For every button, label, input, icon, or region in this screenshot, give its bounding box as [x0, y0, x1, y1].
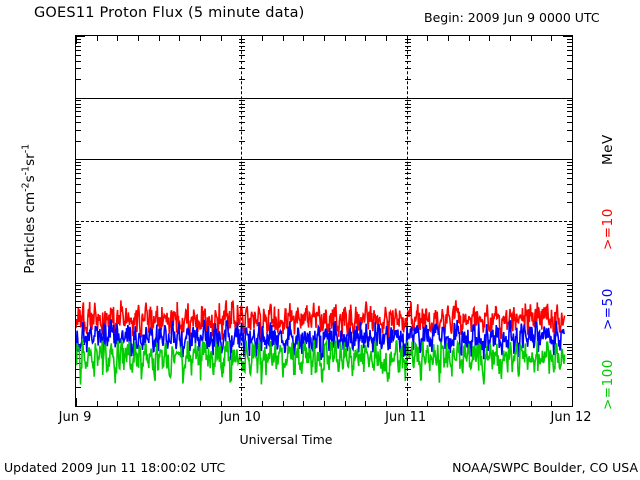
divider-minor-tick [405, 347, 411, 348]
divider-minor-tick [405, 224, 411, 225]
divider-minor-tick [405, 326, 411, 327]
divider-minor-tick [239, 104, 245, 105]
divider-minor-tick [239, 39, 245, 40]
x-axis-major-tick [572, 398, 573, 406]
divider-minor-tick [405, 162, 411, 163]
divider-minor-tick [405, 296, 411, 297]
divider-minor-tick [405, 264, 411, 265]
divider-minor-tick [405, 165, 411, 166]
x-tick-label: Jun 12 [551, 410, 592, 425]
legend-item-100: >=100 [600, 359, 616, 410]
divider-minor-tick [239, 192, 245, 193]
divider-minor-tick [239, 246, 245, 247]
divider-minor-tick [405, 107, 411, 108]
divider-minor-tick [239, 240, 245, 241]
divider-minor-tick [239, 301, 245, 302]
x-tick-label: Jun 9 [59, 410, 92, 425]
divider-minor-tick [239, 307, 245, 308]
divider-minor-tick [405, 315, 411, 316]
divider-minor-tick [239, 107, 245, 108]
divider-minor-tick [405, 130, 411, 131]
x-tick-label: Jun 10 [220, 410, 261, 425]
divider-minor-tick [405, 178, 411, 179]
y-axis-title: Particles cm-2s-1sr-1 [20, 94, 38, 324]
divider-minor-tick [239, 253, 245, 254]
divider-minor-tick [239, 326, 245, 327]
y-axis-major-tick [76, 406, 85, 407]
divider-minor-tick [405, 192, 411, 193]
divider-minor-tick [405, 116, 411, 117]
divider-minor-tick [239, 358, 245, 359]
divider-minor-tick [239, 162, 245, 163]
divider-minor-tick [239, 184, 245, 185]
divider-minor-tick [239, 79, 245, 80]
divider-minor-tick [405, 173, 411, 174]
divider-minor-tick [239, 50, 245, 51]
divider-minor-tick [405, 292, 411, 293]
divider-minor-tick [239, 100, 245, 101]
divider-minor-tick [405, 169, 411, 170]
divider-minor-tick [405, 61, 411, 62]
divider-minor-tick [239, 377, 245, 378]
legend-item-10: >=10 [600, 208, 616, 250]
divider-minor-tick [239, 347, 245, 348]
y-axis-title-text: Particles cm [22, 192, 38, 274]
divider-minor-tick [239, 141, 245, 142]
divider-minor-tick [405, 285, 411, 286]
divider-minor-tick [405, 350, 411, 351]
x-tick-label: Jun 11 [385, 410, 426, 425]
divider-minor-tick [239, 289, 245, 290]
divider-minor-tick [239, 130, 245, 131]
divider-minor-tick [239, 285, 245, 286]
divider-minor-tick [405, 141, 411, 142]
divider-minor-tick [405, 122, 411, 123]
begin-time-label: Begin: 2009 Jun 9 0000 UTC [424, 10, 600, 25]
divider-minor-tick [405, 354, 411, 355]
day-divider-line [241, 36, 242, 406]
divider-minor-tick [405, 39, 411, 40]
divider-minor-tick [239, 227, 245, 228]
divider-minor-tick [239, 350, 245, 351]
divider-minor-tick [239, 202, 245, 203]
divider-minor-tick [239, 369, 245, 370]
data-series-layer [76, 36, 572, 406]
divider-minor-tick [405, 100, 411, 101]
footer-source: NOAA/SWPC Boulder, CO USA [452, 460, 638, 475]
divider-minor-tick [239, 231, 245, 232]
divider-minor-tick [405, 104, 411, 105]
x-axis-major-tick [572, 36, 573, 44]
plot-area [75, 35, 573, 407]
divider-minor-tick [405, 363, 411, 364]
divider-minor-tick [405, 253, 411, 254]
x-axis-title: Universal Time [240, 432, 333, 447]
divider-minor-tick [405, 387, 411, 388]
divider-minor-tick [239, 363, 245, 364]
divider-minor-tick [405, 50, 411, 51]
divider-minor-tick [405, 184, 411, 185]
divider-minor-tick [405, 68, 411, 69]
divider-minor-tick [239, 122, 245, 123]
divider-minor-tick [405, 289, 411, 290]
divider-minor-tick [239, 264, 245, 265]
footer-updated: Updated 2009 Jun 11 18:00:02 UTC [4, 460, 225, 475]
chart-title: GOES11 Proton Flux (5 minute data) [34, 5, 305, 21]
divider-minor-tick [239, 354, 245, 355]
legend-item-50: >=50 [600, 288, 616, 330]
divider-minor-tick [239, 111, 245, 112]
divider-minor-tick [239, 292, 245, 293]
divider-minor-tick [239, 224, 245, 225]
divider-minor-tick [405, 246, 411, 247]
divider-minor-tick [239, 315, 245, 316]
divider-minor-tick [239, 68, 245, 69]
divider-minor-tick [239, 178, 245, 179]
divider-minor-tick [405, 240, 411, 241]
divider-minor-tick [239, 55, 245, 56]
divider-minor-tick [405, 358, 411, 359]
divider-minor-tick [239, 387, 245, 388]
divider-minor-tick [405, 235, 411, 236]
divider-minor-tick [239, 235, 245, 236]
divider-minor-tick [239, 61, 245, 62]
divider-minor-tick [405, 377, 411, 378]
divider-minor-tick [405, 42, 411, 43]
divider-minor-tick [405, 227, 411, 228]
divider-minor-tick [405, 111, 411, 112]
divider-minor-tick [239, 173, 245, 174]
divider-minor-tick [405, 301, 411, 302]
divider-minor-tick [405, 231, 411, 232]
divider-minor-tick [405, 46, 411, 47]
divider-minor-tick [405, 55, 411, 56]
legend-units-mev: MeV [600, 134, 616, 165]
divider-minor-tick [239, 46, 245, 47]
divider-minor-tick [239, 169, 245, 170]
divider-minor-tick [239, 296, 245, 297]
day-divider-line [407, 36, 408, 406]
divider-minor-tick [239, 116, 245, 117]
divider-minor-tick [239, 165, 245, 166]
divider-minor-tick [405, 307, 411, 308]
divider-minor-tick [239, 42, 245, 43]
divider-minor-tick [405, 369, 411, 370]
y-axis-major-tick [563, 406, 572, 407]
divider-minor-tick [405, 79, 411, 80]
divider-minor-tick [405, 202, 411, 203]
